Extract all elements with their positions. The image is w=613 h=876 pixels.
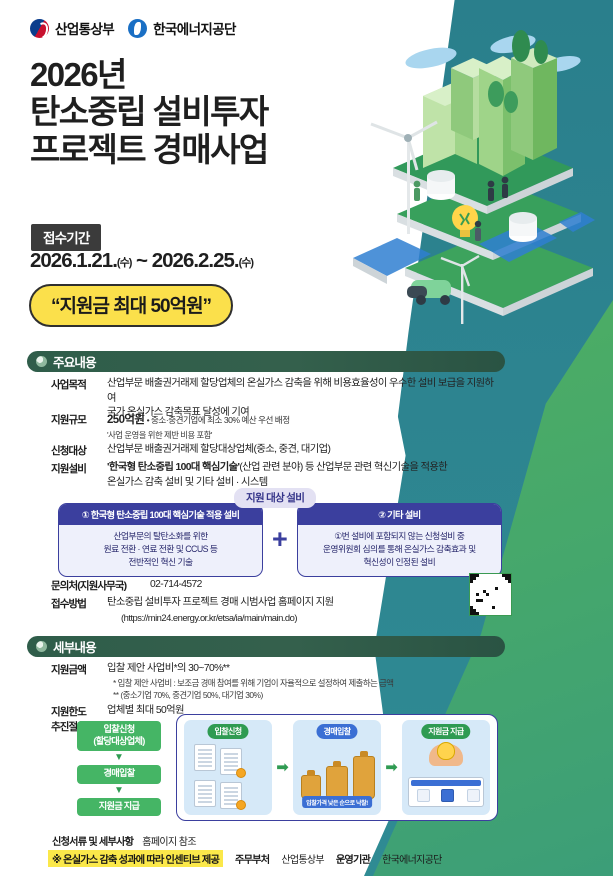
- illustration-step-2-caption: 경매입찰: [316, 724, 357, 739]
- motie-emblem-icon: [30, 19, 49, 38]
- row-eligibility: 신청대상 산업부문 배출권거래제 할당대상업체(중소, 중견, 대기업): [51, 443, 501, 458]
- eco-city-svg: [345, 18, 607, 330]
- footer-incentive-highlight: ※ 온실가스 감축 성과에 따라 인센티브 제공: [48, 850, 223, 867]
- row-purpose-line1: 산업부문 배출권거래제 할당업체의 온실가스 감축을 위해 비용효율성이 우수한…: [107, 377, 501, 406]
- logo-motie: 산업통상부: [30, 18, 114, 38]
- page-title: 2026년 탄소중립 설비투자 프로젝트 경매사업: [30, 56, 268, 168]
- logo-keco: 한국에너지공단: [128, 18, 236, 38]
- row-apply-url[interactable]: (https://min24.energy.or.kr/etsa/ia/main…: [107, 611, 334, 624]
- row-apply-label: 접수방법: [51, 596, 98, 611]
- hand-icon: [429, 744, 463, 766]
- period-end-date: 2026.2.25.: [152, 249, 239, 272]
- footer-docs-label: 신청서류 및 세부사항: [52, 833, 133, 848]
- period-tilde: ~: [131, 249, 151, 272]
- bid-jar-medium-icon: [326, 766, 348, 799]
- row-grant-limit-value: 업체별 최대 50억원: [107, 704, 184, 719]
- illustration-step-1-caption: 입찰신청: [207, 724, 248, 739]
- equipment-box-2-line2: 운영위원회 심의를 통해 온실가스 감축효과 및: [304, 543, 495, 556]
- flow-arrow-icon-1: ➡: [276, 760, 289, 775]
- row-scale-amount: 250억원: [107, 414, 144, 426]
- illustration-step-bid-application: 입찰신청: [184, 720, 272, 815]
- logo-motie-label: 산업통상부: [55, 18, 114, 38]
- target-equipment-boxes: ① 한국형 탄소중립 100대 핵심기술 적용 설비 산업부문의 탈탄소화를 위…: [58, 503, 502, 577]
- period-chip: 접수기간: [31, 224, 101, 251]
- illustration-step-2-art: 입찰가격 낮은 순으로 낙찰!: [293, 738, 381, 811]
- document-icon-1: [194, 744, 216, 771]
- formula-cell-3: [467, 789, 480, 802]
- footer-agency-label: 운영기관: [336, 851, 370, 866]
- section-title-detail: 세부내용: [53, 637, 96, 656]
- procedure-step-1-line1: 입찰신청: [80, 724, 158, 736]
- row-grant-amount-note1: * 입찰 제안 사업비 : 보조금 경매 참여를 위해 기업이 자율적으로 설정…: [107, 677, 394, 689]
- row-equipment-line1-bold: '한국형 탄소중립 100대 핵심기술': [107, 462, 239, 473]
- grant-highlight-badge: “지원금 최대 50억원”: [29, 284, 233, 327]
- illustration-step-3-caption: 지원금 지급: [421, 724, 470, 739]
- footer-docs-row: 신청서류 및 세부사항 홈페이지 참조: [52, 833, 196, 848]
- row-apply-value: 탄소중립 설비투자 프로젝트 경매 시범사업 홈페이지 지원 (https://…: [107, 596, 334, 624]
- logo-keco-label: 한국에너지공단: [153, 18, 236, 38]
- period-end-day: (수): [239, 257, 253, 269]
- equipment-box-2-body: ①번 설비에 포함되지 않는 신청설비 중 운영위원회 심의를 통해 온실가스 …: [298, 525, 501, 576]
- footer-ministry-value: 산업통상부: [281, 851, 324, 866]
- flow-arrow-icon-2: ➡: [385, 760, 398, 775]
- equipment-box-1: ① 한국형 탄소중립 100대 핵심기술 적용 설비 산업부문의 탈탄소화를 위…: [58, 503, 263, 577]
- coin-icon-1: [236, 768, 246, 778]
- equipment-box-2: ② 기타 설비 ①번 설비에 포함되지 않는 신청설비 중 운영위원회 심의를 …: [297, 503, 502, 577]
- period-dates: 2026.1.21.(수) ~ 2026.2.25.(수): [30, 249, 253, 273]
- row-scale-label: 지원규모: [51, 412, 98, 427]
- equipment-box-1-line1: 산업부문의 탈탄소화를 위한: [65, 530, 256, 543]
- agency-logos: 산업통상부 한국에너지공단: [30, 18, 236, 38]
- title-line-3: 프로젝트 경매사업: [30, 131, 268, 168]
- period-start-day: (수): [117, 257, 131, 269]
- procedure-illustration-panel: 입찰신청 ➡ 경매입찰 입찰가격 낮은 순으로 낙찰! ➡ 지원금 지급: [176, 714, 498, 821]
- row-grant-limit-label: 지원한도: [51, 704, 98, 719]
- row-equipment-line1-rest: (산업 관련 분야) 등 산업부문 관련 혁신기술을 적용한: [239, 462, 447, 473]
- qr-code-icon[interactable]: [469, 573, 512, 616]
- procedure-step-3: 지원금 지급: [77, 798, 161, 817]
- row-grant-amount-main: 입찰 제안 사업비*의 30~70%**: [107, 662, 394, 677]
- row-eligibility-label: 신청대상: [51, 443, 98, 458]
- section-header-main: 주요내용: [27, 351, 505, 372]
- row-contact-label: 문의처(지원사무국): [51, 578, 141, 593]
- procedure-arrow-1-icon: ▼: [77, 753, 161, 763]
- payout-formula-card: [408, 777, 484, 807]
- section-bullet-icon: [36, 356, 47, 367]
- equipment-box-2-header: ② 기타 설비: [298, 504, 501, 525]
- illustration-step-payout: 지원금 지급: [402, 720, 490, 815]
- row-contact-phone: 02-714-4572: [150, 578, 202, 593]
- row-grant-amount-value: 입찰 제안 사업비*의 30~70%** * 입찰 제안 사업비 : 보조금 경…: [107, 662, 394, 701]
- formula-cell-1: [417, 789, 430, 802]
- plus-icon: +: [269, 526, 291, 553]
- bid-jar-large-icon: [353, 756, 375, 799]
- payout-formula-title-bar: [411, 780, 481, 786]
- auction-note-label: 입찰가격 낮은 순으로 낙찰!: [302, 796, 372, 808]
- title-line-2: 탄소중립 설비투자: [30, 93, 268, 130]
- coin-icon-2: [236, 800, 246, 810]
- procedure-arrow-2-icon: ▼: [77, 786, 161, 796]
- footer-ministry-label: 주무부처: [235, 851, 269, 866]
- document-icon-3: [194, 780, 216, 807]
- footer-agency-value: 한국에너지공단: [382, 851, 442, 866]
- section-header-detail: 세부내용: [27, 636, 505, 657]
- procedure-step-1-line2: (할당대상업체): [80, 736, 158, 748]
- equipment-box-1-header: ① 한국형 탄소중립 100대 핵심기술 적용 설비: [59, 504, 262, 525]
- formula-cell-2: [441, 789, 454, 802]
- equipment-box-1-line3: 전반적인 혁신 기술: [65, 556, 256, 569]
- section-bullet-icon-2: [36, 641, 47, 652]
- footer-meta-row: ※ 온실가스 감축 성과에 따라 인센티브 제공 주무부처 산업통상부 운영기관…: [48, 850, 442, 867]
- procedure-steps-left: 입찰신청 (할당대상업체) ▼ 경매입찰 ▼ 지원금 지급: [77, 721, 161, 816]
- row-scale: 지원규모 250억원 • 중소·중견기업에 최소 30% 예산 우선 배정 '사…: [51, 412, 501, 441]
- row-equipment-label: 지원설비: [51, 461, 98, 476]
- row-grant-limit: 지원한도 업체별 최대 50억원: [51, 704, 184, 719]
- equipment-box-2-line3: 혁신성이 인정된 설비: [304, 556, 495, 569]
- row-scale-value: 250억원 • 중소·중견기업에 최소 30% 예산 우선 배정 '사업 운영을…: [107, 412, 290, 441]
- row-scale-note: • 중소·중견기업에 최소 30% 예산 우선 배정: [147, 415, 290, 425]
- section-title-main: 주요내용: [53, 352, 96, 371]
- illustration-step-3-art: [402, 738, 490, 811]
- keco-emblem-icon: [128, 19, 147, 38]
- row-grant-amount-label: 지원금액: [51, 662, 98, 677]
- target-equipment-chip: 지원 대상 설비: [234, 488, 316, 508]
- period-start-date: 2026.1.21.: [30, 249, 117, 272]
- procedure-step-2: 경매입찰: [77, 765, 161, 784]
- eco-city-illustration: [345, 18, 607, 330]
- row-eligibility-value: 산업부문 배출권거래제 할당대상업체(중소, 중견, 대기업): [107, 443, 330, 458]
- row-equipment-value: '한국형 탄소중립 100대 핵심기술'(산업 관련 분야) 등 산업부문 관련…: [107, 461, 447, 490]
- row-grant-amount-note2: ** (중소기업 70%, 중견기업 50%, 대기업 30%): [107, 689, 394, 701]
- row-grant-amount: 지원금액 입찰 제안 사업비*의 30~70%** * 입찰 제안 사업비 : …: [51, 662, 501, 701]
- row-apply-text: 탄소중립 설비투자 프로젝트 경매 시범사업 홈페이지 지원: [107, 596, 334, 611]
- row-apply: 접수방법 탄소중립 설비투자 프로젝트 경매 시범사업 홈페이지 지원 (htt…: [51, 596, 471, 624]
- illustration-step-auction-bid: 경매입찰 입찰가격 낮은 순으로 낙찰!: [293, 720, 381, 815]
- poster-root: 산업통상부 한국에너지공단 2026년 탄소중립 설비투자 프로젝트 경매사업 …: [0, 0, 613, 876]
- row-contact: 문의처(지원사무국) 02-714-4572: [51, 578, 202, 593]
- money-bag-icon: [437, 742, 455, 760]
- equipment-box-1-body: 산업부문의 탈탄소화를 위한 원료 전환 · 연료 전환 및 CCUS 등 전반…: [59, 525, 262, 576]
- illustration-step-1-art: [184, 738, 272, 811]
- row-scale-sub: '사업 운영을 위한 제반 비용 포함': [107, 429, 290, 441]
- equipment-box-1-line2: 원료 전환 · 연료 전환 및 CCUS 등: [65, 543, 256, 556]
- row-equipment: 지원설비 '한국형 탄소중립 100대 핵심기술'(산업 관련 분야) 등 산업…: [51, 461, 503, 490]
- row-purpose-label: 사업목적: [51, 377, 98, 392]
- equipment-box-2-line1: ①번 설비에 포함되지 않는 신청설비 중: [304, 530, 495, 543]
- footer-docs-value: 홈페이지 참조: [142, 833, 196, 848]
- title-line-1: 2026년: [30, 56, 268, 93]
- procedure-step-1: 입찰신청 (할당대상업체): [77, 721, 161, 751]
